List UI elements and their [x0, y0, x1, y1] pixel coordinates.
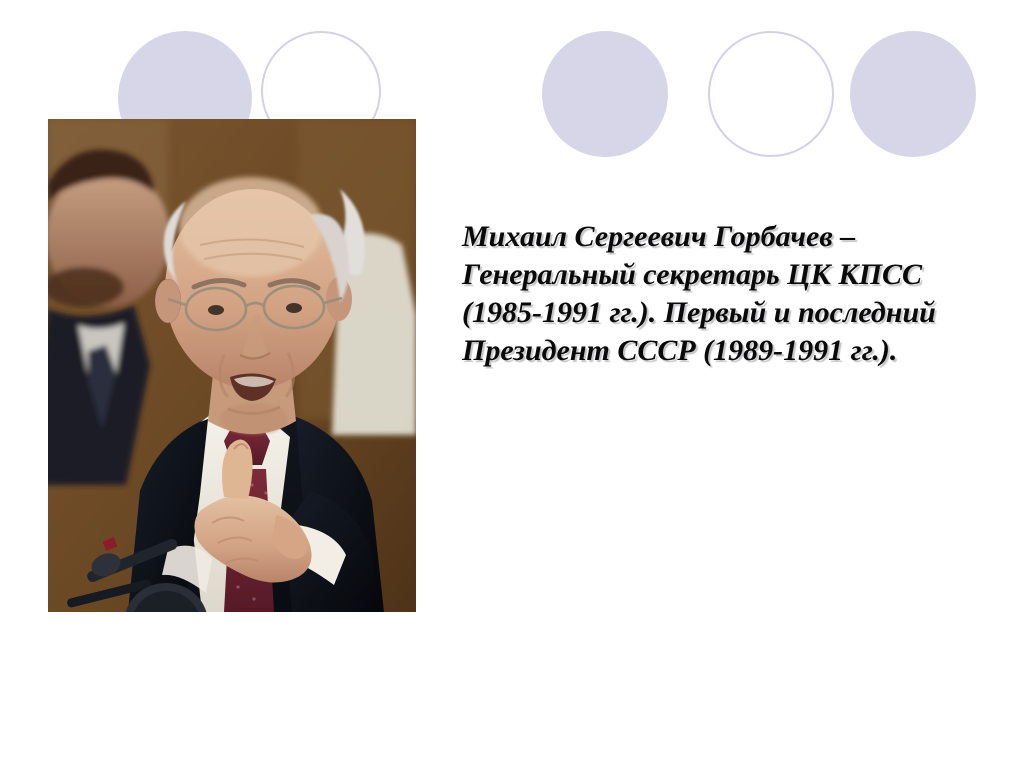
decorative-circle-4 [708, 31, 834, 157]
slide-canvas: Михаил Сергеевич Горбачев – Генеральный … [0, 0, 1024, 767]
photo-illustration [48, 119, 416, 612]
caption-line-2: Генеральный секретарь ЦК КПСС [462, 256, 967, 294]
decorative-circle-3 [542, 31, 668, 157]
decorative-circle-5 [850, 31, 976, 157]
photo-gorbachev [48, 119, 416, 612]
caption-text: Михаил Сергеевич Горбачев – Генеральный … [462, 218, 967, 370]
caption-line-1: Михаил Сергеевич Горбачев – [462, 218, 967, 256]
caption-line-4: Президент СССР (1989-1991 гг.). [462, 332, 967, 370]
caption-line-3: (1985-1991 гг.). Первый и последний [462, 294, 967, 332]
